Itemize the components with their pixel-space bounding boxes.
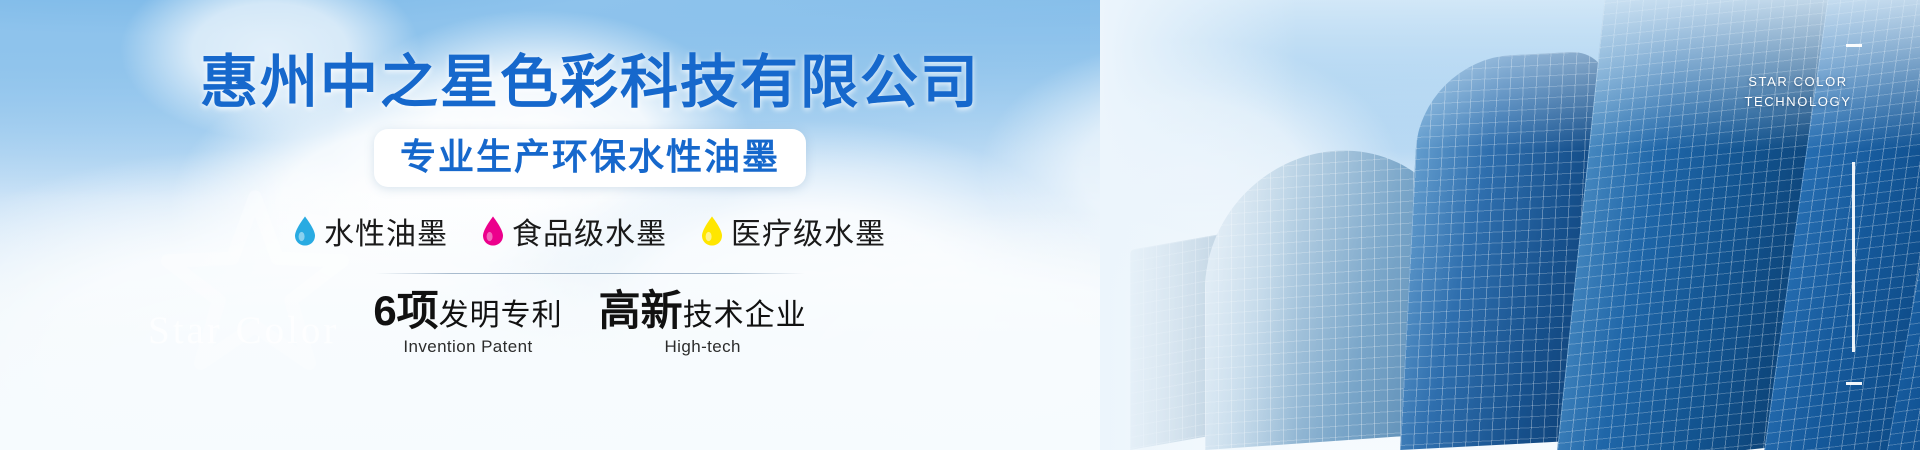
product-tag-list: 水性油墨 食品级水墨 医疗级水墨 [294, 209, 886, 253]
product-tag-label: 水性油墨 [324, 209, 448, 253]
badge-main-line: 高新技术企业 [599, 290, 807, 332]
water-drop-icon [482, 216, 504, 246]
badge-main-line: 6项发明专利 [373, 290, 562, 332]
subtitle-text: 专业生产环保水性油墨 [400, 136, 780, 177]
badge-high-tech: 高新技术企业 High-tech [599, 290, 807, 357]
section-divider [375, 273, 805, 274]
badge-invention-patent: 6项发明专利 Invention Patent [373, 290, 562, 357]
left-edge-fade [1100, 0, 1920, 450]
badge-strong-text: 高新 [599, 287, 683, 334]
water-drop-icon [701, 216, 723, 246]
product-tag-label: 医疗级水墨 [731, 209, 886, 253]
banner-content: 惠州中之星色彩科技有限公司 专业生产环保水性油墨 水性油墨 食品级水墨 [0, 0, 1180, 450]
logo-vertical-rule [1852, 162, 1855, 352]
company-title: 惠州中之星色彩科技有限公司 [200, 54, 980, 112]
water-drop-icon [294, 216, 316, 246]
product-tag-medical-grade: 医疗级水墨 [701, 209, 886, 253]
star-color-logo: STAR COLOR TECHNOLOGY [1728, 72, 1868, 112]
product-tag-label: 食品级水墨 [512, 209, 667, 253]
logo-rule-bottom [1846, 382, 1862, 385]
badge-rest-text: 发明专利 [439, 299, 563, 332]
logo-line-2: TECHNOLOGY [1728, 92, 1868, 112]
promo-banner: Star Color STAR COLOR TECHNOLOGY [0, 0, 1920, 450]
badge-rest-text: 技术企业 [683, 299, 807, 332]
product-tag-food-grade: 食品级水墨 [482, 209, 667, 253]
badge-english-text: Invention Patent [373, 337, 562, 357]
skyscraper-photo: STAR COLOR TECHNOLOGY [1100, 0, 1920, 450]
logo-rule-top [1846, 44, 1862, 47]
badge-english-text: High-tech [599, 337, 807, 357]
logo-line-1: STAR COLOR [1728, 72, 1868, 92]
credential-badges: 6项发明专利 Invention Patent 高新技术企业 High-tech [373, 290, 806, 357]
badge-strong-text: 6项 [373, 287, 438, 334]
product-tag-water-ink: 水性油墨 [294, 209, 448, 253]
subtitle-pill: 专业生产环保水性油墨 [374, 129, 806, 187]
